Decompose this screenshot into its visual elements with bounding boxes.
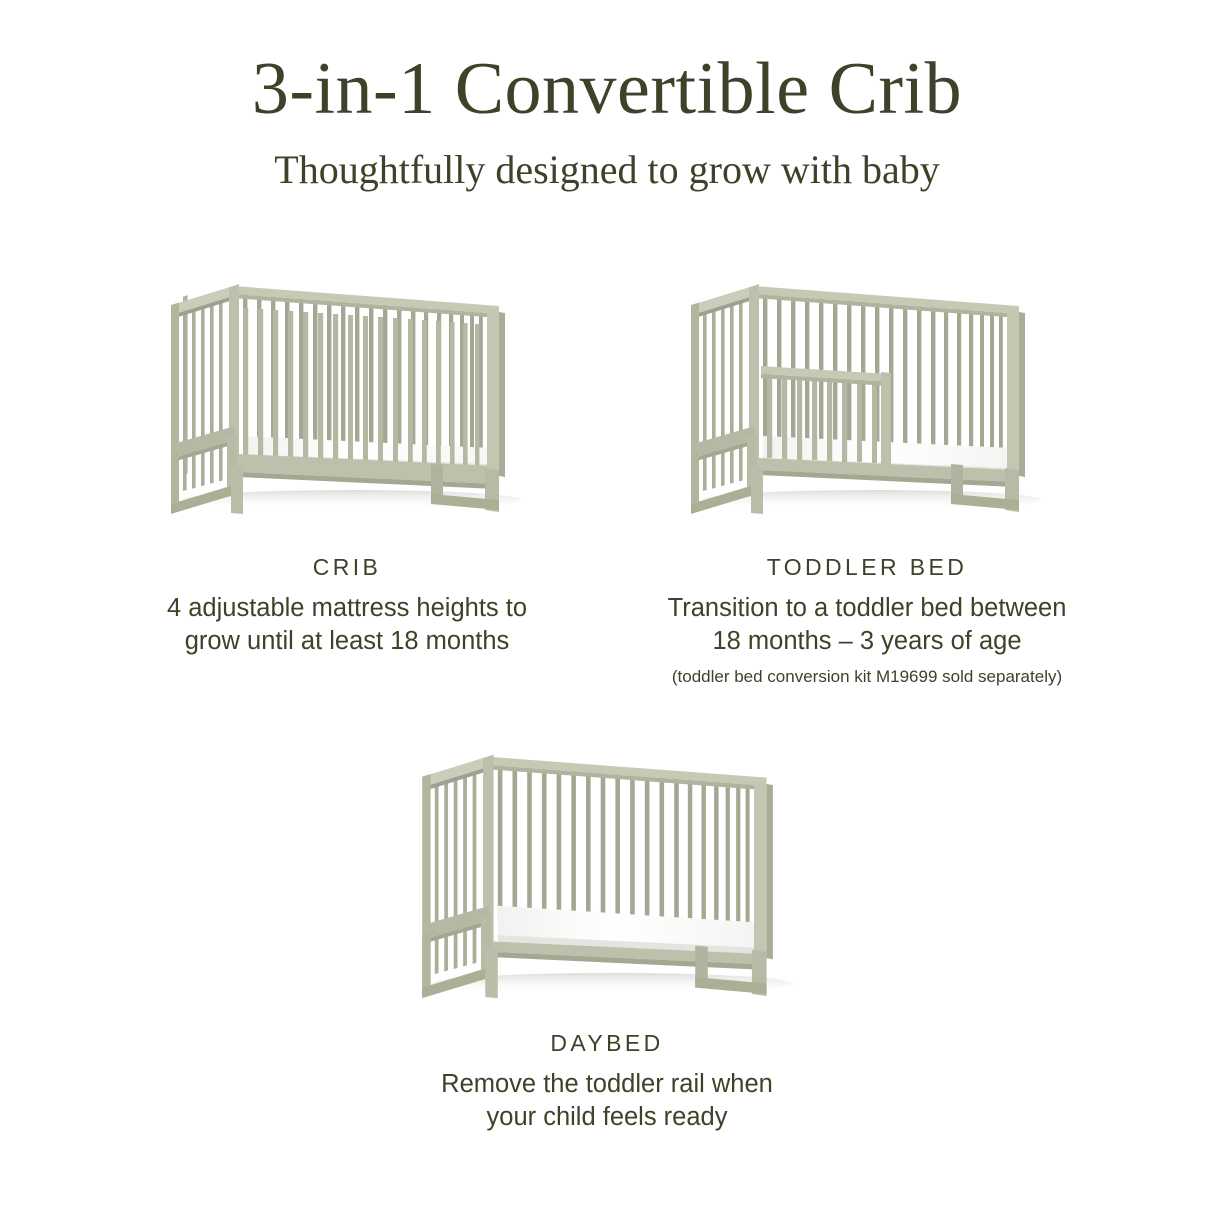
toddler-bed-caption-line-2: 18 months – 3 years of age	[668, 625, 1067, 658]
toddler-bed-caption-title: TODDLER BED	[668, 554, 1067, 581]
crib-caption-line-2: grow until at least 18 months	[167, 625, 527, 658]
header: 3-in-1 Convertible Crib Thoughtfully des…	[0, 0, 1214, 190]
product-crib: CRIB 4 adjustable mattress heights to gr…	[87, 268, 607, 688]
toddler-bed-caption: TODDLER BED Transition to a toddler bed …	[668, 554, 1067, 688]
page-subtitle: Thoughtfully designed to grow with baby	[0, 150, 1214, 190]
crib-illustration	[147, 268, 547, 518]
product-toddler-bed: TODDLER BED Transition to a toddler bed …	[607, 268, 1127, 688]
daybed-caption-title: DAYBED	[441, 1030, 773, 1057]
daybed-illustration	[397, 730, 817, 1008]
toddler-bed-caption-line-1: Transition to a toddler bed between	[668, 592, 1067, 625]
toddler-bed-illustration	[667, 268, 1067, 518]
daybed-caption-line-2: your child feels ready	[441, 1101, 773, 1134]
infographic-page: 3-in-1 Convertible Crib Thoughtfully des…	[0, 0, 1214, 1214]
product-daybed: DAYBED Remove the toddler rail when your…	[347, 730, 867, 1133]
toddler-bed-fine-print: (toddler bed conversion kit M19699 sold …	[668, 666, 1067, 688]
crib-caption-title: CRIB	[167, 554, 527, 581]
crib-caption-line-1: 4 adjustable mattress heights to	[167, 592, 527, 625]
page-title: 3-in-1 Convertible Crib	[0, 52, 1214, 126]
product-row-top: CRIB 4 adjustable mattress heights to gr…	[0, 268, 1214, 688]
product-row-bottom: DAYBED Remove the toddler rail when your…	[0, 730, 1214, 1133]
daybed-caption: DAYBED Remove the toddler rail when your…	[441, 1030, 773, 1133]
daybed-caption-line-1: Remove the toddler rail when	[441, 1068, 773, 1101]
crib-caption: CRIB 4 adjustable mattress heights to gr…	[167, 554, 527, 657]
